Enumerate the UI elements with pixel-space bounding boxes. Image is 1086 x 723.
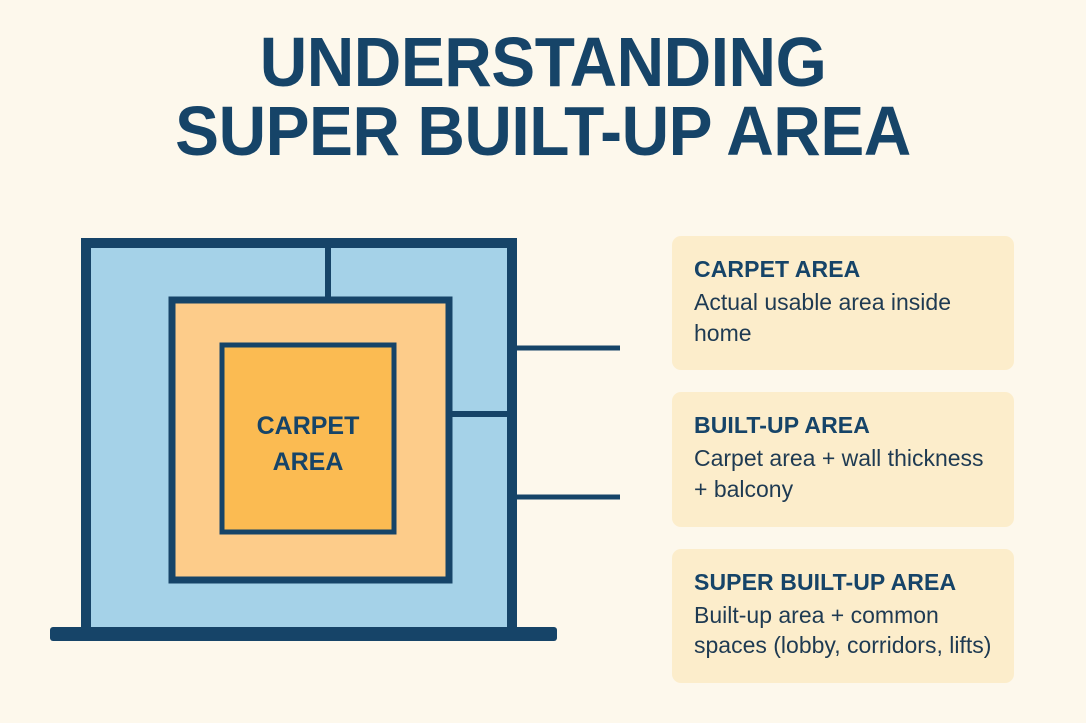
definition-card-carpet-area: CARPET AREA Actual usable area inside ho… (672, 236, 1014, 370)
base-bar (50, 627, 557, 641)
definition-card-built-up-area: BUILT-UP AREA Carpet area + wall thickne… (672, 392, 1014, 526)
card-title-built-up-area: BUILT-UP AREA (694, 412, 992, 439)
definition-card-list: CARPET AREA Actual usable area inside ho… (672, 236, 1014, 705)
card-title-super-built-up-area: SUPER BUILT-UP AREA (694, 569, 992, 596)
carpet-area-label-line-2: AREA (273, 448, 344, 476)
nested-area-diagram: CARPET AREA (0, 0, 620, 718)
card-title-carpet-area: CARPET AREA (694, 256, 992, 283)
definition-card-super-built-up-area: SUPER BUILT-UP AREA Built-up area + comm… (672, 549, 1014, 683)
card-body-super-built-up-area: Built-up area + common spaces (lobby, co… (694, 600, 992, 661)
card-body-built-up-area: Carpet area + wall thickness + balcony (694, 443, 992, 504)
carpet-area-label-line-1: CARPET (257, 412, 360, 440)
card-body-carpet-area: Actual usable area inside home (694, 287, 992, 348)
